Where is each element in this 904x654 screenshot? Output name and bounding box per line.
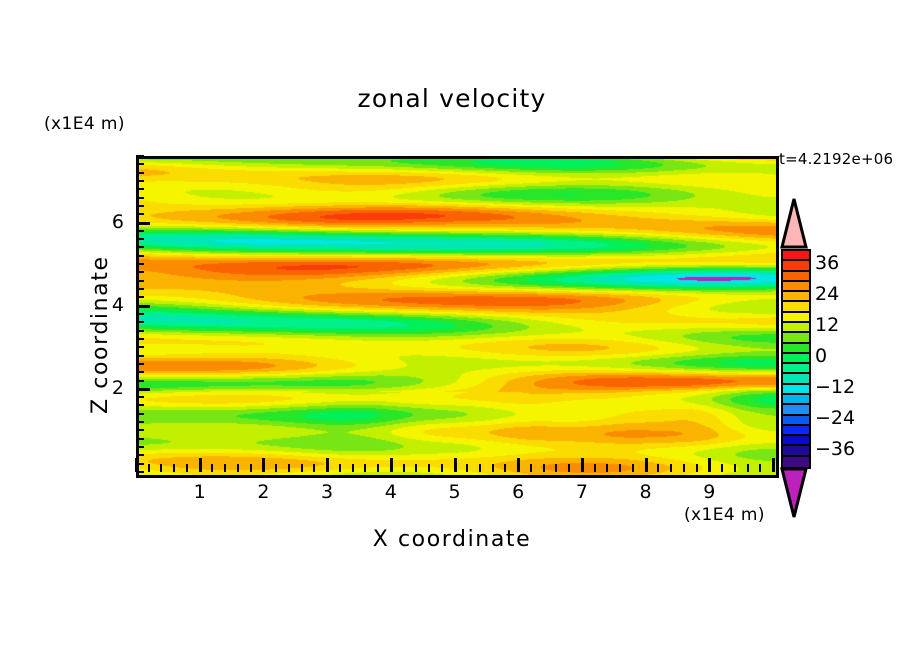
x-tick-label: 7 [562, 481, 602, 503]
contour-field [139, 159, 776, 475]
colorbar-tick-label: 12 [815, 314, 839, 336]
x-minor-tick [530, 464, 532, 472]
contour-plot-panel [136, 156, 779, 478]
colorbar-band [783, 323, 809, 333]
x-major-tick [517, 458, 520, 472]
y-tick-label: 4 [84, 294, 124, 316]
x-minor-tick [403, 464, 405, 472]
colorbar-over-arrow-icon [779, 197, 809, 249]
y-minor-tick [136, 188, 144, 190]
colorbar [781, 249, 811, 469]
x-minor-tick [670, 464, 672, 472]
x-minor-tick [657, 464, 659, 472]
x-minor-tick [492, 464, 494, 472]
colorbar-band [783, 344, 809, 354]
colorbar-tick-label: −36 [815, 438, 855, 460]
x-minor-tick [364, 464, 366, 472]
x-minor-tick [747, 464, 749, 472]
colorbar-tick-label: 36 [815, 252, 839, 274]
x-minor-tick [148, 464, 150, 472]
y-axis-unit-label: (x1E4 m) [44, 114, 125, 134]
colorbar-tick-label: −24 [815, 407, 855, 429]
colorbar-band [783, 292, 809, 302]
x-minor-tick [377, 464, 379, 472]
x-major-tick [645, 458, 648, 472]
x-minor-tick [466, 464, 468, 472]
x-minor-tick [275, 464, 277, 472]
x-minor-tick [250, 464, 252, 472]
y-minor-tick [136, 238, 144, 240]
y-tick-label: 2 [84, 377, 124, 399]
colorbar-band [783, 364, 809, 374]
y-minor-tick [136, 230, 144, 232]
x-minor-tick [160, 464, 162, 472]
x-minor-tick [606, 464, 608, 472]
colorbar-band [783, 436, 809, 446]
y-minor-tick [136, 471, 144, 473]
colorbar-band [783, 333, 809, 343]
y-tick-label: 6 [84, 211, 124, 233]
y-minor-tick [136, 313, 144, 315]
x-major-tick [708, 458, 711, 472]
x-major-tick [390, 458, 393, 472]
y-minor-tick [136, 288, 144, 290]
x-major-tick [581, 458, 584, 472]
chart-title: zonal velocity [0, 84, 904, 113]
colorbar-tick-label: −12 [815, 376, 855, 398]
x-major-tick [262, 458, 265, 472]
y-minor-tick [136, 413, 144, 415]
x-tick-label: 2 [243, 481, 283, 503]
colorbar-band [783, 395, 809, 405]
x-minor-tick [313, 464, 315, 472]
x-minor-tick [619, 464, 621, 472]
x-major-tick [454, 458, 457, 472]
x-major-tick [326, 458, 329, 472]
y-minor-tick [136, 255, 144, 257]
x-minor-tick [632, 464, 634, 472]
x-minor-tick [415, 464, 417, 472]
colorbar-band [783, 426, 809, 436]
x-tick-label: 4 [371, 481, 411, 503]
x-tick-label: 6 [498, 481, 538, 503]
y-minor-tick [136, 246, 144, 248]
colorbar-band [783, 354, 809, 364]
x-major-tick [199, 458, 202, 472]
y-minor-tick [136, 163, 144, 165]
y-major-tick [136, 305, 150, 308]
x-minor-tick [568, 464, 570, 472]
x-minor-tick [555, 464, 557, 472]
y-minor-tick [136, 330, 144, 332]
y-minor-tick [136, 421, 144, 423]
y-minor-tick [136, 155, 144, 157]
x-tick-label: 1 [180, 481, 220, 503]
y-minor-tick [136, 446, 144, 448]
colorbar-band [783, 374, 809, 384]
colorbar-band [783, 416, 809, 426]
y-minor-tick [136, 380, 144, 382]
x-minor-tick [186, 464, 188, 472]
y-minor-tick [136, 363, 144, 365]
y-minor-tick [136, 205, 144, 207]
y-minor-tick [136, 296, 144, 298]
x-minor-tick [479, 464, 481, 472]
y-minor-tick [136, 396, 144, 398]
y-minor-tick [136, 454, 144, 456]
x-minor-tick [696, 464, 698, 472]
colorbar-band [783, 272, 809, 282]
colorbar-band [783, 282, 809, 292]
y-major-tick [136, 222, 150, 225]
colorbar-band [783, 302, 809, 312]
x-tick-label: 9 [689, 481, 729, 503]
x-minor-tick [441, 464, 443, 472]
x-minor-tick [428, 464, 430, 472]
x-tick-label: 5 [435, 481, 475, 503]
y-minor-tick [136, 404, 144, 406]
x-minor-tick [237, 464, 239, 472]
x-minor-tick [288, 464, 290, 472]
y-minor-tick [136, 338, 144, 340]
y-minor-tick [136, 180, 144, 182]
y-minor-tick [136, 321, 144, 323]
colorbar-band [783, 313, 809, 323]
x-minor-tick [504, 464, 506, 472]
colorbar-band [783, 261, 809, 271]
y-minor-tick [136, 172, 144, 174]
colorbar-band [783, 251, 809, 261]
y-minor-tick [136, 438, 144, 440]
x-minor-tick [352, 464, 354, 472]
colorbar-band [783, 457, 809, 467]
colorbar-band [783, 405, 809, 415]
colorbar-under-arrow-icon [779, 467, 809, 519]
x-minor-tick [224, 464, 226, 472]
y-minor-tick [136, 371, 144, 373]
x-axis-unit-label: (x1E4 m) [684, 505, 765, 525]
y-minor-tick [136, 355, 144, 357]
y-minor-tick [136, 271, 144, 273]
x-minor-tick [173, 464, 175, 472]
x-tick-label: 8 [626, 481, 666, 503]
x-minor-tick [543, 464, 545, 472]
x-minor-tick [339, 464, 341, 472]
x-major-tick [135, 458, 138, 472]
colorbar-tick-label: 24 [815, 283, 839, 305]
x-major-tick [772, 458, 775, 472]
y-minor-tick [136, 463, 144, 465]
x-minor-tick [301, 464, 303, 472]
x-minor-tick [683, 464, 685, 472]
x-minor-tick [721, 464, 723, 472]
colorbar-tick-label: 0 [815, 345, 827, 367]
y-major-tick [136, 388, 150, 391]
x-axis-title: X coordinate [0, 527, 904, 552]
colorbar-band [783, 385, 809, 395]
x-minor-tick [734, 464, 736, 472]
y-minor-tick [136, 280, 144, 282]
x-minor-tick [594, 464, 596, 472]
y-minor-tick [136, 213, 144, 215]
y-minor-tick [136, 263, 144, 265]
y-minor-tick [136, 429, 144, 431]
y-minor-tick [136, 346, 144, 348]
timestamp-annotation: t=4.2192e+06 [779, 150, 893, 168]
x-minor-tick [211, 464, 213, 472]
y-minor-tick [136, 197, 144, 199]
x-tick-label: 3 [307, 481, 347, 503]
x-minor-tick [759, 464, 761, 472]
colorbar-band [783, 446, 809, 456]
